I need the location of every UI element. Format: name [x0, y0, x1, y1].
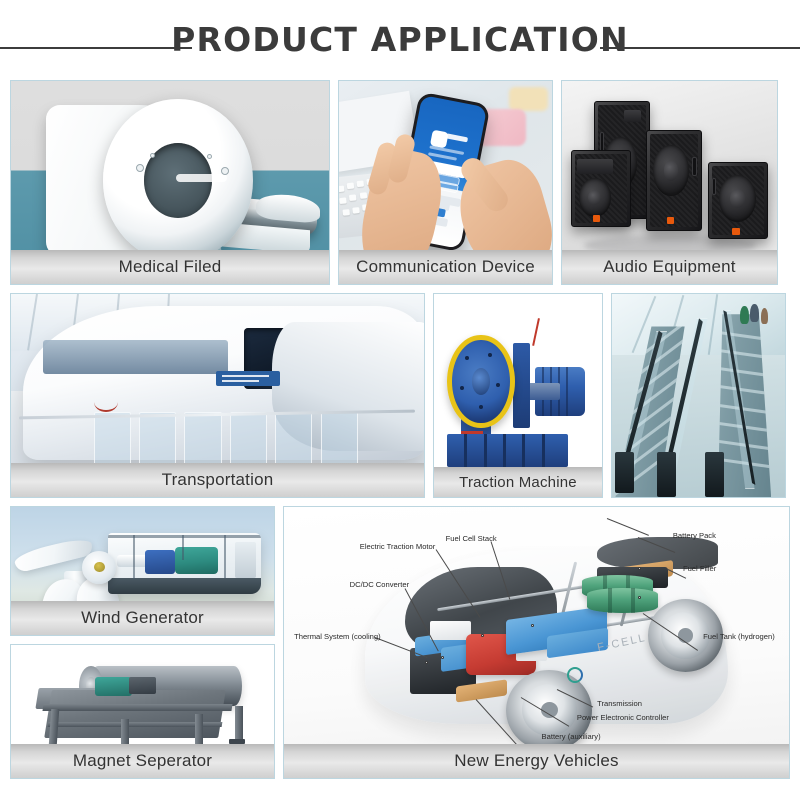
card-label: Wind Generator — [11, 601, 274, 635]
annotation-transmission: Transmission — [597, 699, 642, 708]
grid-column-left: Wind Generator — [10, 506, 275, 779]
card-new-energy-vehicles[interactable]: F-CELL Electric Traction Motor Fuel Cell… — [283, 506, 790, 779]
grid-row-3: Wind Generator — [10, 506, 790, 779]
card-label: Audio Equipment — [562, 250, 777, 284]
annotation-battery-pack: Battery Pack — [673, 531, 716, 540]
card-medical-field[interactable]: Medical Filed — [10, 80, 330, 285]
title-rule-left — [0, 47, 192, 49]
annotation-fuel-filler: Fuel Filler — [683, 564, 716, 573]
annotation-fuel-tank-hydrogen: Fuel Tank (hydrogen) — [703, 632, 775, 641]
card-escalator[interactable] — [611, 293, 786, 498]
annotation-thermal-system: Thermal System (cooling) — [294, 632, 381, 641]
card-label: Traction Machine — [434, 467, 602, 497]
card-label: Communication Device — [339, 250, 552, 284]
card-magnet-separator[interactable]: Magnet Seperator — [10, 644, 275, 779]
card-traction-machine[interactable]: Traction Machine — [433, 293, 603, 498]
card-label: New Energy Vehicles — [284, 744, 789, 778]
annotation-battery-auxiliary: Battery (auxiliary) — [542, 732, 601, 741]
fuel-cell-car-icon: F-CELL Electric Traction Motor Fuel Cell… — [284, 507, 789, 778]
grid-row-2: Transportation — [10, 293, 790, 498]
card-label: Medical Filed — [11, 250, 329, 284]
grid-row-1: Medical Filed — [10, 80, 790, 285]
card-audio-equipment[interactable]: Audio Equipment — [561, 80, 778, 285]
page-title: PRODUCT APPLICATION — [171, 20, 629, 61]
annotation-fuel-cell-stack: Fuel Cell Stack — [446, 534, 497, 543]
annotation-dcdc-converter: DC/DC Converter — [350, 580, 410, 589]
page-header: PRODUCT APPLICATION — [0, 0, 800, 80]
card-communication-device[interactable]: Communication Device — [338, 80, 553, 285]
annotation-power-electronic-controller: Power Electronic Controller — [577, 713, 669, 722]
application-grid: Medical Filed — [0, 80, 800, 779]
annotation-electric-traction-motor: Electric Traction Motor — [360, 542, 436, 551]
card-transportation[interactable]: Transportation — [10, 293, 425, 498]
card-wind-generator[interactable]: Wind Generator — [10, 506, 275, 636]
escalator-icon — [612, 294, 785, 497]
card-label: Transportation — [11, 463, 424, 497]
card-label: Magnet Seperator — [11, 744, 274, 778]
title-rule-right — [600, 47, 800, 49]
